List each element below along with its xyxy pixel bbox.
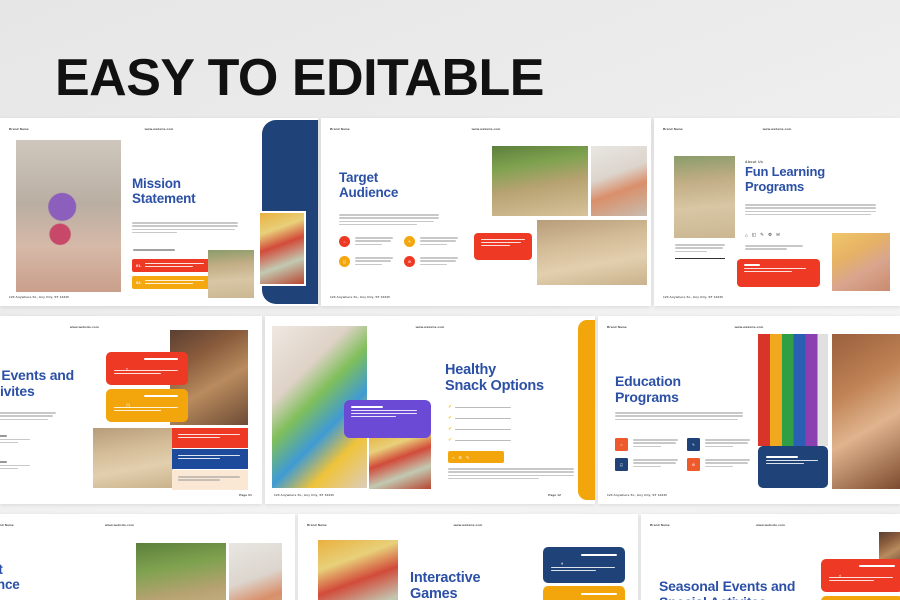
card-1[interactable]: ◐ bbox=[106, 352, 188, 385]
slide-row-1: Brand Name www.website.com 123 Anywhere … bbox=[0, 118, 900, 306]
folder-icon: ◱ bbox=[339, 256, 350, 267]
card-text bbox=[829, 577, 893, 583]
brand-label: Brand Name bbox=[330, 127, 350, 131]
gear-icon: ⚙ bbox=[768, 232, 772, 238]
slide-heading: nal Events and Activites bbox=[0, 368, 74, 399]
address-label: 123 Anywhere St., Any City, ST 12345 bbox=[663, 295, 723, 299]
card-text bbox=[551, 567, 615, 573]
feature-text-1 bbox=[355, 237, 393, 247]
photo-kids-outdoor bbox=[136, 543, 226, 600]
slide-education-programs[interactable]: Brand Name www.website.com 123 Anywhere … bbox=[598, 316, 900, 504]
slide-heading: Education Programs bbox=[615, 374, 681, 405]
card-title bbox=[581, 593, 617, 597]
checklist-item-1: ✓ bbox=[448, 405, 511, 410]
side-note bbox=[675, 244, 725, 254]
page-title: EASY TO EDITABLE bbox=[55, 52, 544, 104]
website-label: www.website.com bbox=[763, 127, 792, 131]
photo-child-camera bbox=[16, 140, 121, 292]
icon-caption bbox=[745, 245, 803, 252]
website-label: www.website.com bbox=[454, 523, 483, 527]
slide-mission-statement[interactable]: Brand Name www.website.com 123 Anywhere … bbox=[0, 118, 318, 306]
slide-heading: Target Audience bbox=[339, 170, 398, 200]
feature-text-4 bbox=[705, 459, 750, 469]
item-number: 02. bbox=[136, 280, 142, 285]
strip-text bbox=[178, 476, 240, 483]
pencil-icon: ✎ bbox=[404, 236, 415, 247]
checklist-item-4: ✓ bbox=[448, 438, 511, 443]
brand-label: Brand Name bbox=[9, 127, 29, 131]
page-number: Page 01 bbox=[239, 493, 252, 497]
home-icon: ⌂ bbox=[745, 233, 748, 238]
callout-box[interactable] bbox=[758, 446, 828, 488]
slide-row-3: Brand Name www.website.com rget dience B… bbox=[0, 514, 900, 600]
card-text bbox=[114, 407, 178, 413]
item-text bbox=[145, 280, 212, 285]
photo-kids-floor bbox=[537, 220, 647, 285]
list-label bbox=[133, 249, 175, 253]
card-2[interactable]: ❐ bbox=[106, 389, 188, 422]
numbered-item-01[interactable]: 01. bbox=[132, 259, 212, 272]
callout-box[interactable] bbox=[474, 233, 532, 260]
check-icon: ✓ bbox=[448, 405, 452, 410]
website-label: www.website.com bbox=[735, 325, 764, 329]
slide-heading: rget dience bbox=[0, 562, 20, 592]
checklist-item-2: ✓ bbox=[448, 416, 511, 421]
card-title bbox=[581, 554, 617, 558]
folder-icon: ◱ bbox=[752, 232, 756, 238]
address-label: 123 Anywhere St., Any City, ST 12345 bbox=[607, 493, 667, 497]
card-2[interactable]: ❐ bbox=[543, 586, 625, 600]
feature-text-2 bbox=[420, 237, 458, 247]
brand-label: Brand Name bbox=[607, 325, 627, 329]
callout-text bbox=[744, 264, 806, 274]
pencil-icon: ✎ bbox=[466, 455, 469, 460]
slide-seasonal-events-cropped[interactable]: www.website.com Page 01 nal Events and A… bbox=[0, 316, 262, 504]
note-2 bbox=[0, 461, 30, 471]
home-icon: ⌂ bbox=[452, 455, 454, 460]
item-text bbox=[145, 263, 212, 268]
callout-box[interactable] bbox=[737, 259, 820, 287]
website-label: www.website.com bbox=[756, 523, 785, 527]
item-number: 01. bbox=[136, 263, 142, 268]
strip-1[interactable] bbox=[172, 428, 248, 448]
home-icon: ⌂ bbox=[339, 236, 350, 247]
website-label: www.website.com bbox=[105, 523, 134, 527]
slide-row-2: www.website.com Page 01 nal Events and A… bbox=[0, 316, 900, 504]
brand-label: Brand Name bbox=[650, 523, 670, 527]
card-title bbox=[144, 358, 178, 362]
slide-target-audience[interactable]: Brand Name www.website.com 123 Anywhere … bbox=[321, 118, 651, 306]
card-2[interactable]: ❐ bbox=[821, 596, 900, 600]
card-1[interactable]: ◐ bbox=[543, 547, 625, 583]
page-number: Page 12 bbox=[548, 493, 561, 497]
photo-kid-kitchen bbox=[229, 543, 282, 600]
icon-bar[interactable]: ⌂ ⚙ ✎ bbox=[448, 451, 504, 463]
home-icon: ⌂ bbox=[615, 438, 628, 451]
folder-icon: ◱ bbox=[615, 458, 628, 471]
check-icon: ✓ bbox=[448, 416, 452, 421]
address-label: 123 Anywhere St., Any City, ST 12345 bbox=[9, 295, 69, 299]
strip-text bbox=[178, 455, 240, 461]
strip-3[interactable] bbox=[172, 470, 248, 490]
photo-playroom bbox=[318, 540, 398, 600]
feature-text-1 bbox=[633, 439, 678, 449]
website-label: www.website.com bbox=[70, 325, 99, 329]
numbered-item-02[interactable]: 02. bbox=[132, 276, 212, 289]
feature-text-2 bbox=[705, 439, 750, 449]
slide-interactive-games[interactable]: Brand Name www.website.com Interactive G… bbox=[298, 514, 638, 600]
strip-text bbox=[178, 434, 240, 440]
photo-mother-child bbox=[832, 233, 890, 291]
brand-label: Brand Name bbox=[0, 523, 14, 527]
pencil-icon: ✎ bbox=[760, 232, 764, 238]
website-label: www.website.com bbox=[472, 127, 501, 131]
slide-fun-learning-programs[interactable]: Brand Name www.website.com 123 Anywhere … bbox=[654, 118, 900, 306]
feature-text-3 bbox=[355, 257, 393, 267]
card-text bbox=[114, 370, 178, 376]
check-icon: ✓ bbox=[448, 427, 452, 432]
card-title bbox=[859, 565, 895, 569]
photo-kids-books bbox=[879, 532, 900, 562]
gear-icon: ⚙ bbox=[404, 256, 415, 267]
slide-heading: Healthy Snack Options bbox=[445, 362, 544, 394]
address-label: 123 Anywhere St., Any City, ST 12345 bbox=[274, 493, 334, 497]
photo-kids-sand bbox=[208, 250, 254, 298]
brand-label: Brand Name bbox=[663, 127, 683, 131]
callout-text bbox=[351, 406, 417, 419]
photo-kid-kitchen bbox=[591, 146, 647, 216]
checklist-item-3: ✓ bbox=[448, 427, 511, 432]
slide-body bbox=[745, 204, 876, 217]
photo-wood-blocks bbox=[758, 334, 828, 446]
slide-body bbox=[132, 222, 238, 235]
slide-body bbox=[339, 214, 439, 227]
slide-heading: Seasonal Events and Special Activites bbox=[659, 579, 795, 600]
card-1[interactable]: ◐ bbox=[821, 559, 900, 592]
slide-seasonal-events[interactable]: Brand Name www.website.com Seasonal Even… bbox=[641, 514, 900, 600]
divider bbox=[675, 258, 725, 259]
slide-heading: Interactive Games bbox=[410, 570, 480, 600]
photo-kid-play bbox=[258, 211, 306, 286]
card-icon-cards: ❐ bbox=[561, 591, 565, 600]
slide-healthy-snack-options[interactable]: Brand Name www.website.com 123 Anywhere … bbox=[265, 316, 595, 504]
website-label: www.website.com bbox=[416, 325, 445, 329]
callout-box[interactable] bbox=[344, 400, 431, 438]
card-title bbox=[144, 395, 178, 399]
address-label: 123 Anywhere St., Any City, ST 12345 bbox=[330, 295, 390, 299]
slide-body bbox=[0, 412, 56, 422]
brand-label: Brand Name bbox=[307, 523, 327, 527]
side-accent-bar bbox=[578, 320, 595, 500]
photo-child-sand bbox=[674, 156, 735, 238]
gear-icon: ⚙ bbox=[687, 458, 700, 471]
callout-text bbox=[766, 456, 818, 466]
slide-heading: Mission Statement bbox=[132, 176, 195, 206]
website-label: www.website.com bbox=[145, 127, 174, 131]
slide-body bbox=[448, 468, 574, 481]
photo-kids-sand bbox=[93, 428, 173, 488]
photo-hand-blocks bbox=[832, 334, 900, 489]
photo-kids-outdoor bbox=[492, 146, 588, 216]
note-1 bbox=[0, 435, 30, 445]
slide-heading: Fun Learning Programs bbox=[745, 165, 825, 194]
slide-body bbox=[615, 412, 743, 422]
callout-text bbox=[481, 239, 525, 247]
feature-text-3 bbox=[633, 459, 678, 469]
strip-2[interactable] bbox=[172, 449, 248, 469]
gear-icon: ⚙ bbox=[458, 455, 462, 460]
mail-icon: ✉ bbox=[776, 232, 780, 238]
photo-kids-playing bbox=[369, 434, 431, 489]
icon-row[interactable]: ⌂ ◱ ✎ ⚙ ✉ bbox=[745, 232, 780, 238]
slide-target-audience-bottom[interactable]: Brand Name www.website.com rget dience bbox=[0, 514, 295, 600]
check-icon: ✓ bbox=[448, 438, 452, 443]
pencil-icon: ✎ bbox=[687, 438, 700, 451]
feature-text-4 bbox=[420, 257, 458, 267]
